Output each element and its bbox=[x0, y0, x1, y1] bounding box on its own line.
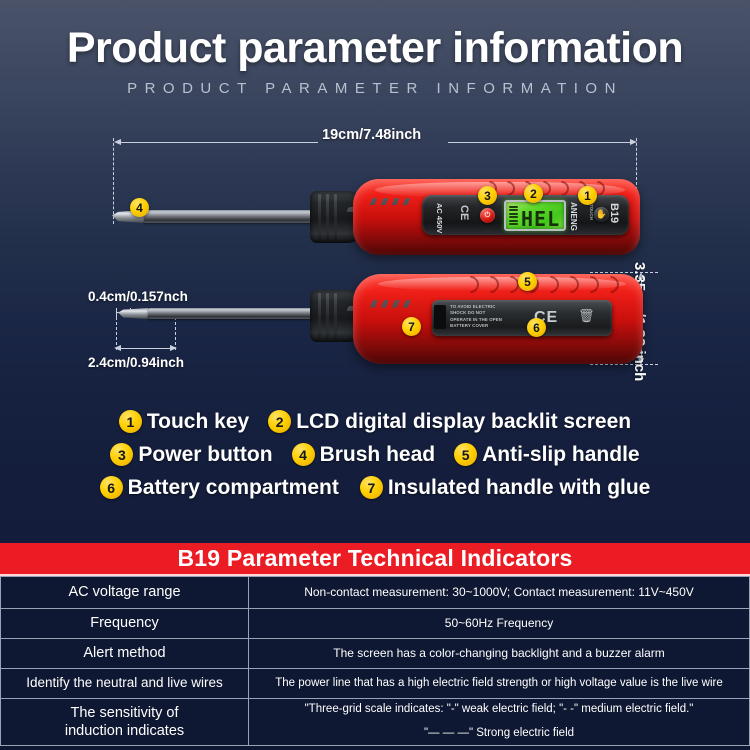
spec-key: AC voltage range bbox=[1, 577, 249, 609]
lcd-value: HEL bbox=[521, 207, 560, 231]
spec-value: The screen has a color-changing backligh… bbox=[249, 639, 750, 669]
spec-key: The sensitivity of induction indicates bbox=[1, 699, 249, 746]
dim-line-length-2 bbox=[448, 142, 633, 143]
spec-value: "Three-grid scale indicates: "-" weak el… bbox=[249, 699, 750, 746]
callout-label: Brush head bbox=[320, 443, 436, 467]
badge-6-battery-compartment: 6 bbox=[527, 318, 546, 337]
product-bottom-view: TO AVOID ELECTRIC SHOCK DO NOT OPERATE I… bbox=[110, 272, 640, 367]
spec-value: 50~60Hz Frequency bbox=[249, 609, 750, 639]
callout-row: 3 Power button 4 Brush head 5 Anti-slip … bbox=[0, 438, 750, 471]
dim-line-length bbox=[118, 142, 318, 143]
spec-value: The power line that has a high electric … bbox=[249, 669, 750, 699]
page-title: Product parameter information bbox=[0, 24, 750, 73]
callout-row: 1 Touch key 2 LCD digital display backli… bbox=[0, 405, 750, 438]
callout-row: 6 Battery compartment 7 Insulated handle… bbox=[0, 471, 750, 504]
brush-head-tip-2 bbox=[118, 308, 148, 319]
spec-table-section: B19 Parameter Technical Indicators AC vo… bbox=[0, 543, 750, 750]
callout-item-3: 3 Power button bbox=[110, 443, 272, 467]
badge-3-power-button: 3 bbox=[478, 186, 497, 205]
callout-badge: 4 bbox=[292, 443, 315, 466]
power-button[interactable]: ⏻ bbox=[480, 208, 495, 223]
spec-value: Non-contact measurement: 30~1000V; Conta… bbox=[249, 577, 750, 609]
table-row: Frequency 50~60Hz Frequency bbox=[1, 609, 750, 639]
table-row: Identify the neutral and live wires The … bbox=[1, 669, 750, 699]
callout-label: Battery compartment bbox=[128, 476, 339, 500]
callout-badge: 5 bbox=[454, 443, 477, 466]
callout-label: LCD digital display backlit screen bbox=[296, 410, 631, 434]
spec-key-line1: The sensitivity of bbox=[5, 704, 244, 722]
callout-label: Insulated handle with glue bbox=[388, 476, 651, 500]
product-top-view: AC 450V CE ⏻ HEL ANENG TOUCH ✋ B19 bbox=[110, 170, 640, 260]
touch-key[interactable]: ✋ bbox=[594, 207, 609, 222]
badge-4-brush-head: 4 bbox=[130, 198, 149, 217]
spec-key: Alert method bbox=[1, 639, 249, 669]
spec-key-line2: induction indicates bbox=[5, 722, 244, 740]
hero-section: Product parameter information PRODUCT PA… bbox=[0, 0, 750, 543]
grip-chevron-icons bbox=[366, 198, 416, 230]
spec-table: AC voltage range Non-contact measurement… bbox=[0, 576, 750, 746]
callout-item-7: 7 Insulated handle with glue bbox=[360, 476, 651, 500]
spec-table-title-bar: B19 Parameter Technical Indicators bbox=[0, 543, 750, 576]
page-subtitle: PRODUCT PARAMETER INFORMATION bbox=[0, 80, 750, 97]
badge-1-touch-key: 1 bbox=[578, 186, 597, 205]
battery-compartment[interactable]: TO AVOID ELECTRIC SHOCK DO NOT OPERATE I… bbox=[432, 300, 612, 336]
callout-label: Power button bbox=[138, 443, 272, 467]
lcd-scale-bars bbox=[509, 206, 518, 225]
callout-legend: 1 Touch key 2 LCD digital display backli… bbox=[0, 405, 750, 504]
dim-arrow-left bbox=[114, 139, 121, 145]
shaft-2 bbox=[148, 308, 318, 319]
power-icon: ⏻ bbox=[485, 212, 491, 220]
control-panel: AC 450V CE ⏻ HEL ANENG TOUCH ✋ B19 bbox=[422, 195, 629, 235]
callout-badge: 2 bbox=[268, 410, 291, 433]
ce-mark-icon: CE bbox=[458, 205, 470, 220]
spec-value-line1: "Three-grid scale indicates: "-" weak el… bbox=[253, 701, 745, 719]
callout-label: Touch key bbox=[147, 410, 249, 434]
handle-ribs-2 bbox=[460, 276, 630, 294]
waste-bin-icon: 🗑 bbox=[578, 308, 595, 324]
table-row: AC voltage range Non-contact measurement… bbox=[1, 577, 750, 609]
spec-table-title: B19 Parameter Technical Indicators bbox=[178, 545, 573, 572]
spec-key: Identify the neutral and live wires bbox=[1, 669, 249, 699]
callout-badge: 6 bbox=[100, 476, 123, 499]
callout-item-6: 6 Battery compartment bbox=[100, 476, 339, 500]
badge-7-insulated-handle: 7 bbox=[402, 317, 421, 336]
callout-label: Anti-slip handle bbox=[482, 443, 640, 467]
dim-arrow-right bbox=[630, 139, 637, 145]
badge-2-lcd-screen: 2 bbox=[524, 184, 543, 203]
badge-5-anti-slip-handle: 5 bbox=[518, 272, 537, 291]
battery-warning-text: TO AVOID ELECTRIC SHOCK DO NOT OPERATE I… bbox=[450, 304, 508, 330]
table-row: Alert method The screen has a color-chan… bbox=[1, 639, 750, 669]
callout-item-5: 5 Anti-slip handle bbox=[454, 443, 640, 467]
dimension-length-label: 19cm/7.48inch bbox=[322, 127, 421, 143]
shaft bbox=[144, 210, 319, 223]
callout-item-4: 4 Brush head bbox=[292, 443, 436, 467]
ac-rating-label: AC 450V bbox=[435, 203, 444, 233]
callout-item-1: 1 Touch key bbox=[119, 410, 249, 434]
callout-item-2: 2 LCD digital display backlit screen bbox=[268, 410, 631, 434]
callout-badge: 7 bbox=[360, 476, 383, 499]
brand-label: ANENG bbox=[569, 202, 578, 231]
model-label: B19 bbox=[608, 203, 620, 223]
lcd-screen: HEL bbox=[504, 200, 566, 231]
table-row: The sensitivity of induction indicates "… bbox=[1, 699, 750, 746]
spec-key: Frequency bbox=[1, 609, 249, 639]
callout-badge: 1 bbox=[119, 410, 142, 433]
callout-badge: 3 bbox=[110, 443, 133, 466]
spec-value-line2: "— — —" Strong electric field bbox=[253, 725, 745, 743]
